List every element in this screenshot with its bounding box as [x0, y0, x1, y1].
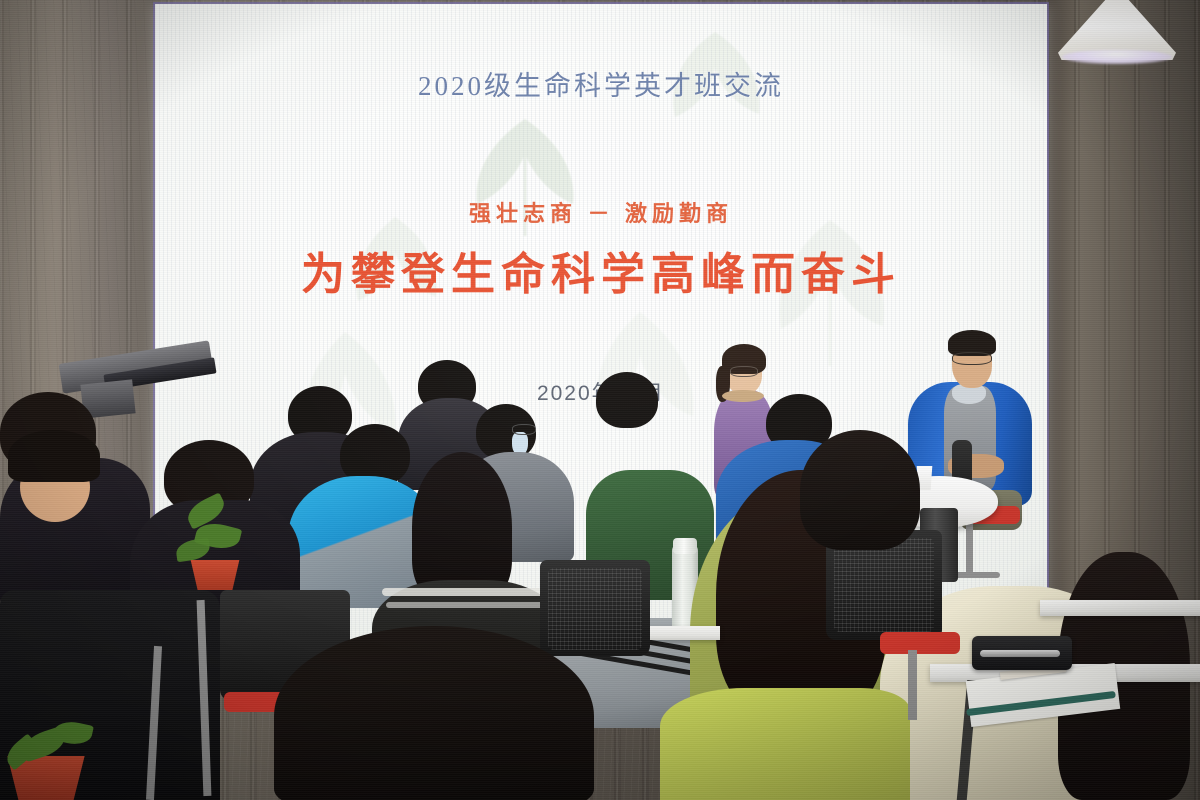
slide-headline: 为攀登生命科学高峰而奋斗	[155, 238, 1047, 302]
desk-right-back	[1040, 600, 1200, 616]
woman-speaker-glasses-icon	[730, 366, 758, 377]
foreground-head-dark	[274, 626, 594, 800]
slide-title: 2020级生命科学英才班交流	[155, 64, 1047, 103]
varsity-stripe	[382, 588, 552, 596]
office-chair-mesh	[834, 538, 934, 632]
office-chair-seat	[880, 632, 960, 654]
foreground-head-dark-2	[800, 430, 920, 550]
lamp-glow	[1062, 50, 1172, 64]
audience-torso-yellowgreen	[660, 688, 910, 800]
slide-subtitle: 强壮志商 － 激励勤商	[155, 196, 1047, 228]
speaker-chair-post	[966, 520, 973, 578]
audience-hair-left	[8, 430, 100, 482]
classroom-photo: 2020级生命科学英才班交流 强壮志商 － 激励勤商 为攀登生命科学高峰而奋斗 …	[0, 0, 1200, 800]
varsity-stripe	[386, 602, 550, 608]
office-chair-mesh	[548, 568, 642, 650]
office-chair-post	[908, 650, 917, 720]
man-speaker-glasses-icon	[952, 352, 992, 365]
woman-speaker-neck	[722, 390, 764, 402]
student-glasses-icon	[512, 424, 536, 435]
thermos-cap	[673, 538, 697, 554]
pencil-case-zipper	[980, 650, 1060, 657]
